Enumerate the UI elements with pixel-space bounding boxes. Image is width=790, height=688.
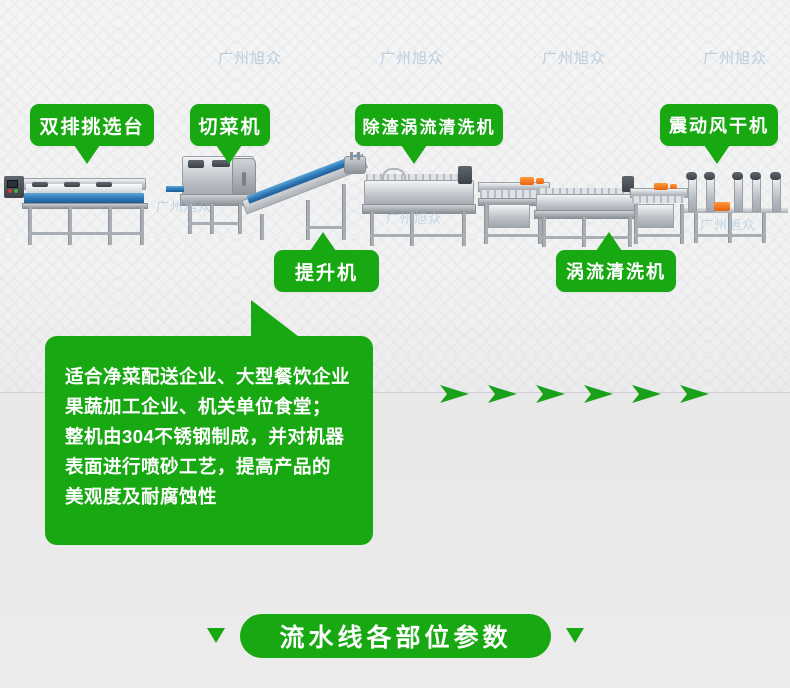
label-lift-conveyor[interactable]: 提升机 [274, 250, 379, 292]
banner-right-marker-icon [566, 628, 584, 643]
label-vibrating-air-dryer-text: 震动风干机 [669, 112, 769, 138]
watermark-overlay-3: 广州旭众 [700, 214, 756, 233]
watermark-text-2: 广州旭众 [380, 47, 444, 68]
label-deslagging-vortex-washer-text: 除渣涡流清洗机 [363, 113, 496, 138]
label-vibrating-air-dryer[interactable]: 震动风干机 [660, 104, 778, 146]
description-callout-text: 适合净菜配送企业、大型餐饮企业 果蔬加工企业、机关单位食堂； 整机由304不锈钢… [65, 362, 359, 512]
description-line-5: 美观度及耐腐蚀性 [65, 482, 359, 512]
label-vegetable-cutter[interactable]: 切菜机 [190, 104, 270, 146]
description-line-3: 整机由304不锈钢制成，并对机器 [65, 422, 359, 452]
machine-dewatering-unit-b [628, 180, 690, 250]
watermark-text-3: 广州旭众 [542, 47, 606, 68]
label-tail-down-icon [216, 145, 242, 164]
label-deslagging-vortex-washer[interactable]: 除渣涡流清洗机 [355, 104, 503, 146]
watermark-overlay-2: 广州旭众 [386, 208, 442, 227]
machine-lift-conveyor [246, 156, 366, 248]
watermark-overlay-1: 广州旭众 [156, 196, 212, 215]
label-tail-up-icon [596, 232, 622, 251]
description-line-4: 表面进行喷砂工艺，提高产品的 [65, 452, 359, 482]
label-tail-down-icon [704, 145, 730, 164]
label-tail-up-icon [310, 232, 336, 251]
product-infographic-page: 广州旭众 广州旭众 广州旭众 广州旭众 [0, 0, 790, 688]
label-sorting-table-text: 双排挑选台 [39, 112, 144, 139]
banner-left-marker-icon [207, 628, 225, 643]
description-callout-pointer [251, 300, 303, 340]
watermark-text-1: 广州旭众 [218, 47, 282, 68]
machine-sorting-table [4, 172, 146, 248]
label-lift-conveyor-text: 提升机 [295, 258, 358, 285]
label-vortex-washer-text: 涡流清洗机 [566, 258, 666, 284]
label-vegetable-cutter-text: 切菜机 [198, 112, 261, 139]
bottom-banner[interactable]: 流水线各部位参数 [240, 614, 551, 658]
label-tail-down-icon [74, 145, 100, 164]
watermark-text-4: 广州旭众 [703, 47, 767, 68]
description-line-1: 适合净菜配送企业、大型餐饮企业 [65, 362, 359, 392]
description-callout: 适合净菜配送企业、大型餐饮企业 果蔬加工企业、机关单位食堂； 整机由304不锈钢… [45, 336, 373, 545]
machine-vibrating-air-dryer [684, 172, 788, 250]
production-line-illustration [0, 150, 790, 255]
bottom-banner-title: 流水线各部位参数 [279, 618, 511, 654]
label-sorting-table[interactable]: 双排挑选台 [30, 104, 154, 146]
label-vortex-washer[interactable]: 涡流清洗机 [556, 250, 676, 292]
label-tail-down-icon [401, 145, 427, 164]
description-line-2: 果蔬加工企业、机关单位食堂； [65, 392, 359, 422]
